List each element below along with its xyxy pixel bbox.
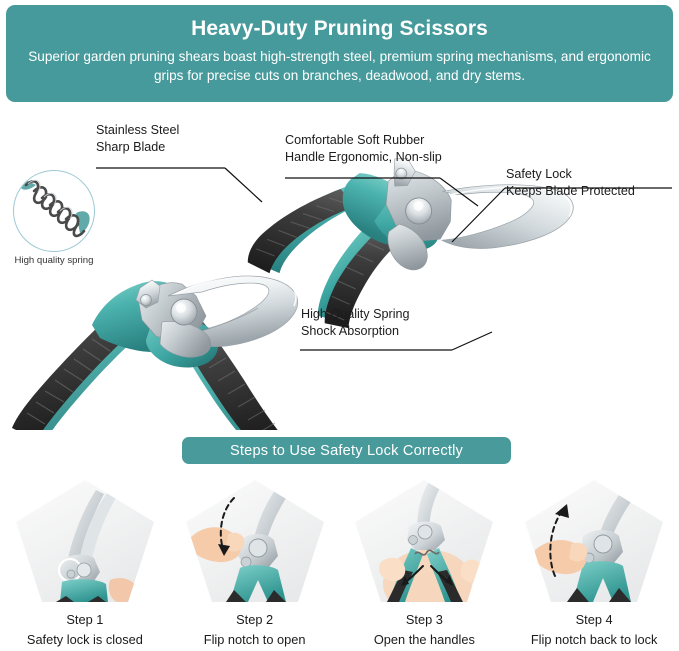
step-1-thumbnail xyxy=(12,478,158,606)
steps-banner-label: Steps to Use Safety Lock Correctly xyxy=(230,443,463,459)
infographic-page: Heavy-Duty Pruning Scissors Superior gar… xyxy=(0,0,679,651)
spring-inset: High quality spring xyxy=(8,170,100,266)
callout-safety-lock-line2: Keeps Blade Protected xyxy=(506,183,674,200)
callout-stainless-steel-line1: Stainless Steel xyxy=(96,122,226,139)
step-4-number: Step 4 xyxy=(509,612,679,627)
step-4-thumbnail xyxy=(521,478,667,606)
header-subtitle: Superior garden pruning shears boast hig… xyxy=(6,47,673,85)
step-1-caption: Safety lock is closed xyxy=(0,632,170,647)
callout-soft-rubber-handle-line1: Comfortable Soft Rubber xyxy=(285,132,475,149)
step-item-4: Step 4 Flip notch back to lock xyxy=(509,478,679,647)
step-3-thumbnail xyxy=(351,478,497,606)
callout-soft-rubber-handle: Comfortable Soft Rubber Handle Ergonomic… xyxy=(285,132,475,166)
product-illustration-area: Stainless Steel Sharp Blade Comfortable … xyxy=(0,110,679,430)
spring-inset-caption: High quality spring xyxy=(8,255,100,266)
step-3-number: Step 3 xyxy=(340,612,510,627)
step-item-2: Step 2 Flip notch to open xyxy=(170,478,340,647)
callout-safety-lock: Safety Lock Keeps Blade Protected xyxy=(506,166,674,200)
step-item-1: Step 1 Safety lock is closed xyxy=(0,478,170,647)
coil-spring-icon xyxy=(14,171,95,252)
page-title: Heavy-Duty Pruning Scissors xyxy=(6,16,673,42)
step-2-thumbnail xyxy=(182,478,328,606)
steps-row: Step 1 Safety lock is closed xyxy=(0,478,679,647)
step-2-number: Step 2 xyxy=(170,612,340,627)
callout-high-quality-spring-line1: High Quality Spring xyxy=(301,306,461,323)
steps-banner: Steps to Use Safety Lock Correctly xyxy=(182,437,511,464)
header-banner: Heavy-Duty Pruning Scissors Superior gar… xyxy=(6,5,673,102)
callout-stainless-steel-line2: Sharp Blade xyxy=(96,139,226,156)
step-4-caption: Flip notch back to lock xyxy=(509,632,679,647)
callout-safety-lock-line1: Safety Lock xyxy=(506,166,674,183)
left-shear xyxy=(12,274,298,430)
step-1-number: Step 1 xyxy=(0,612,170,627)
step-2-caption: Flip notch to open xyxy=(170,632,340,647)
callout-soft-rubber-handle-line2: Handle Ergonomic, Non-slip xyxy=(285,149,475,166)
callout-high-quality-spring: High Quality Spring Shock Absorption xyxy=(301,306,461,340)
spring-photo-circle xyxy=(13,170,95,252)
step-3-caption: Open the handles xyxy=(340,632,510,647)
step-item-3: Step 3 Open the handles xyxy=(340,478,510,647)
callout-high-quality-spring-line2: Shock Absorption xyxy=(301,323,461,340)
callout-stainless-steel: Stainless Steel Sharp Blade xyxy=(96,122,226,156)
